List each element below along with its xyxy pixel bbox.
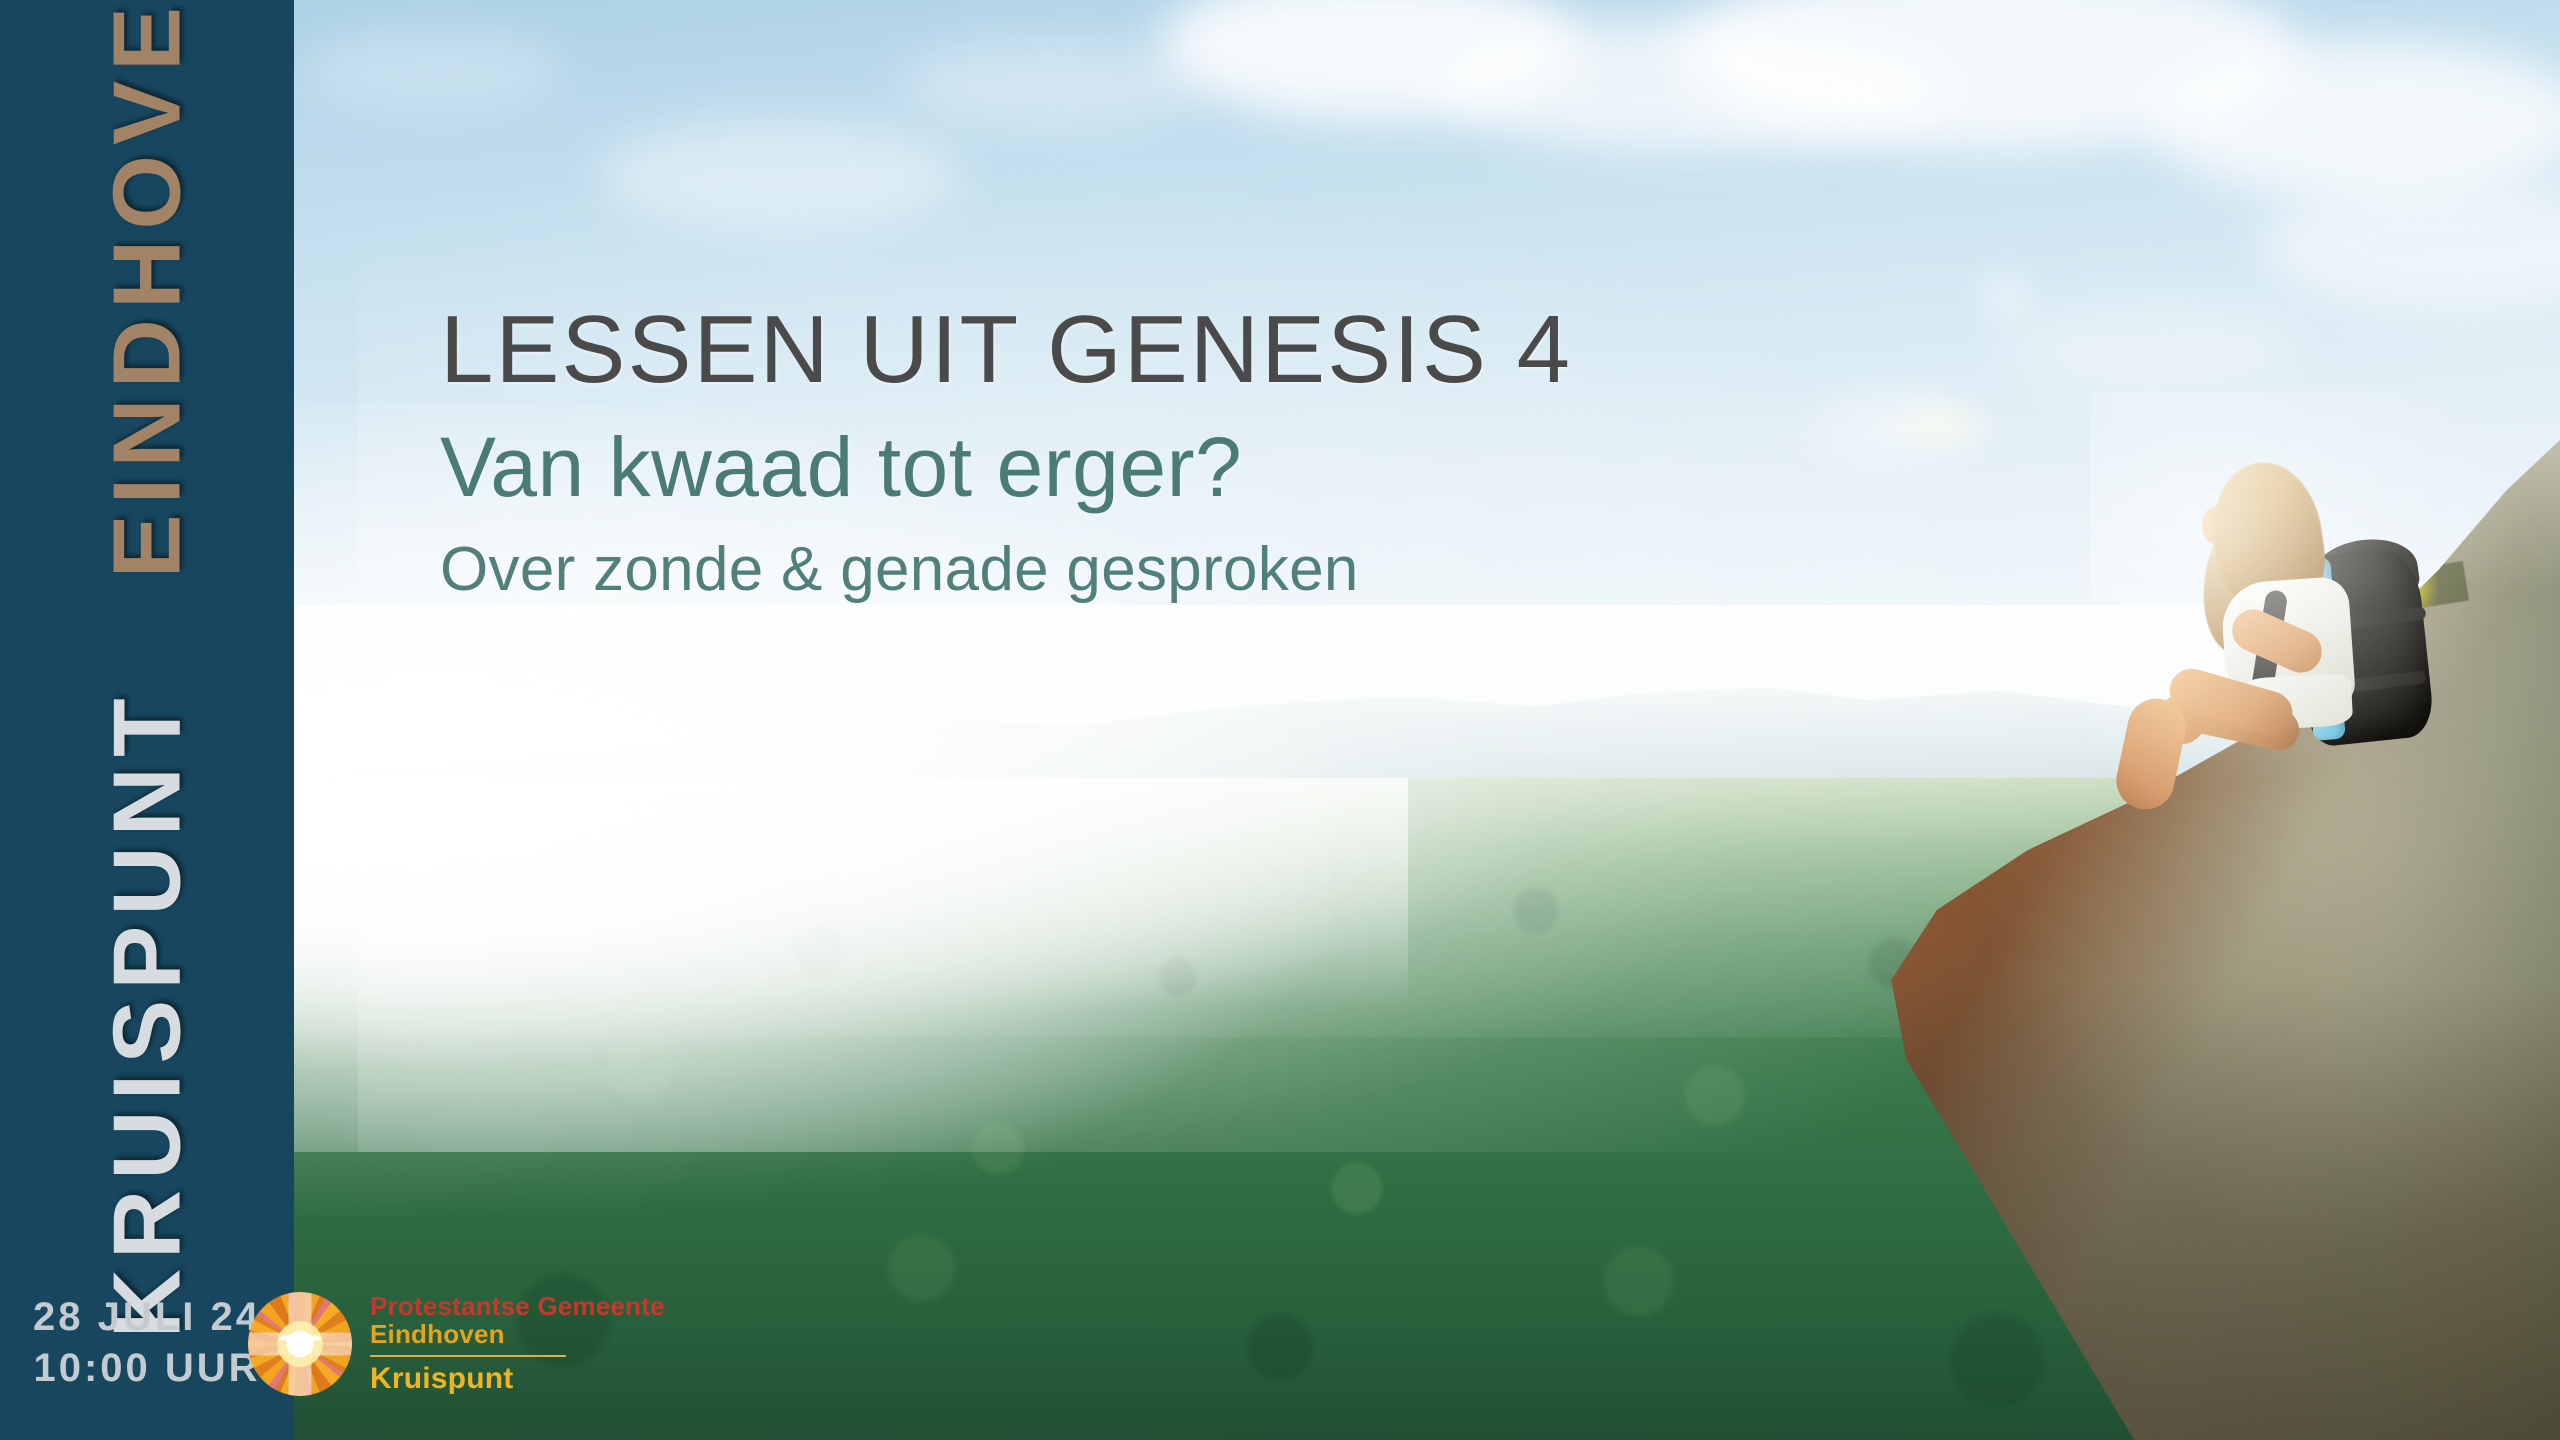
church-logo: Protestantse Gemeente Eindhoven Kruispun… (248, 1284, 708, 1404)
logo-line-3: Kruispunt (370, 1363, 665, 1395)
hiker-figure (2180, 462, 2480, 752)
logo-line-2: Eindhoven (370, 1321, 665, 1349)
vertical-brand-wordmark: KRUISPUNT EINDHOVEN (0, 0, 294, 1255)
logo-text-block: Protestantse Gemeente Eindhoven Kruispun… (370, 1293, 665, 1395)
background-photo (0, 0, 2560, 1440)
cloud-shape (300, 30, 560, 110)
slide-canvas: KRUISPUNT EINDHOVEN 28 JULI 24 10:00 UUR (0, 0, 2560, 1440)
brand-eindhoven: EINDHOVEN (93, 0, 200, 578)
slide-tagline: Over zonde & genade gesproken (440, 537, 1940, 602)
slide-subtitle: Van kwaad tot erger? (440, 424, 1940, 511)
logo-line-1: Protestantse Gemeente (370, 1293, 665, 1321)
brand-sidebar: KRUISPUNT EINDHOVEN 28 JULI 24 10:00 UUR (0, 0, 294, 1440)
logo-divider (370, 1355, 566, 1357)
slide-title: LESSEN UIT GENESIS 4 (440, 300, 1940, 400)
pkn-sunburst-dove-icon (248, 1292, 352, 1396)
headline-block: LESSEN UIT GENESIS 4 Van kwaad tot erger… (440, 300, 1940, 602)
brand-kruispunt: KRUISPUNT (93, 688, 200, 1338)
cloud-shape (900, 40, 1200, 130)
